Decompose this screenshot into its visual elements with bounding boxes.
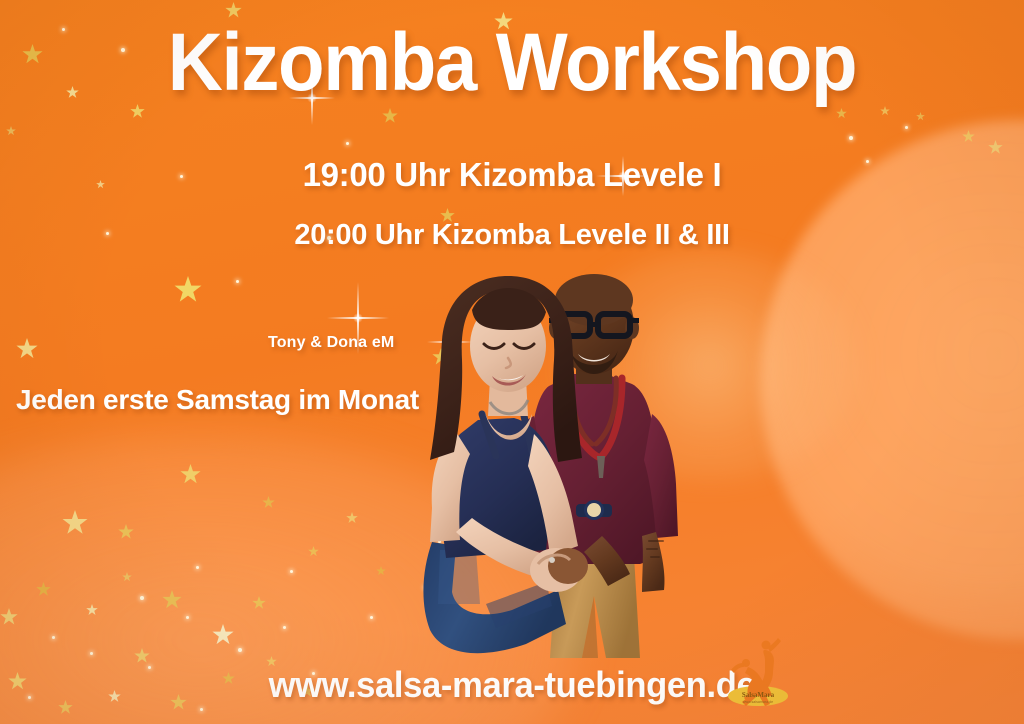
kizomba-workshop-flyer: Kizomba Workshop 19:00 Uhr Kizomba Level… [0,0,1024,724]
sparkle-icon [52,636,55,639]
salsamara-logo[interactable]: SalsaMara www.salsamara.de [726,636,790,708]
sparkle-icon [238,648,242,652]
session-time-level-1: 19:00 Uhr Kizomba Levele I [0,156,1024,194]
page-title: Kizomba Workshop [36,20,988,106]
logo-brand-text: SalsaMara [742,691,775,699]
session-time-level-2-3: 20:00 Uhr Kizomba Levele II & III [0,219,1024,252]
sparkle-icon [290,570,293,573]
sparkle-icon [849,136,853,140]
sparkle-icon [370,616,373,619]
sparkle-icon [283,626,286,629]
sparkle-icon [90,652,93,655]
dancing-couple-photo [416,274,716,658]
schedule-label: Jeden erste Samstag im Monat [16,384,419,416]
logo-tagline-text: www.salsamara.de [743,700,773,704]
instructors-label: Tony & Dona eM [268,334,394,352]
sparkle-icon [346,142,349,145]
sparkle-icon [186,616,189,619]
sparkle-icon [905,126,908,129]
sparkle-icon [236,280,239,283]
sparkle-icon [200,708,203,711]
website-url[interactable]: www.salsa-mara-tuebingen.de [20,664,1003,706]
sparkle-icon [196,566,199,569]
sparkle-icon [140,596,144,600]
